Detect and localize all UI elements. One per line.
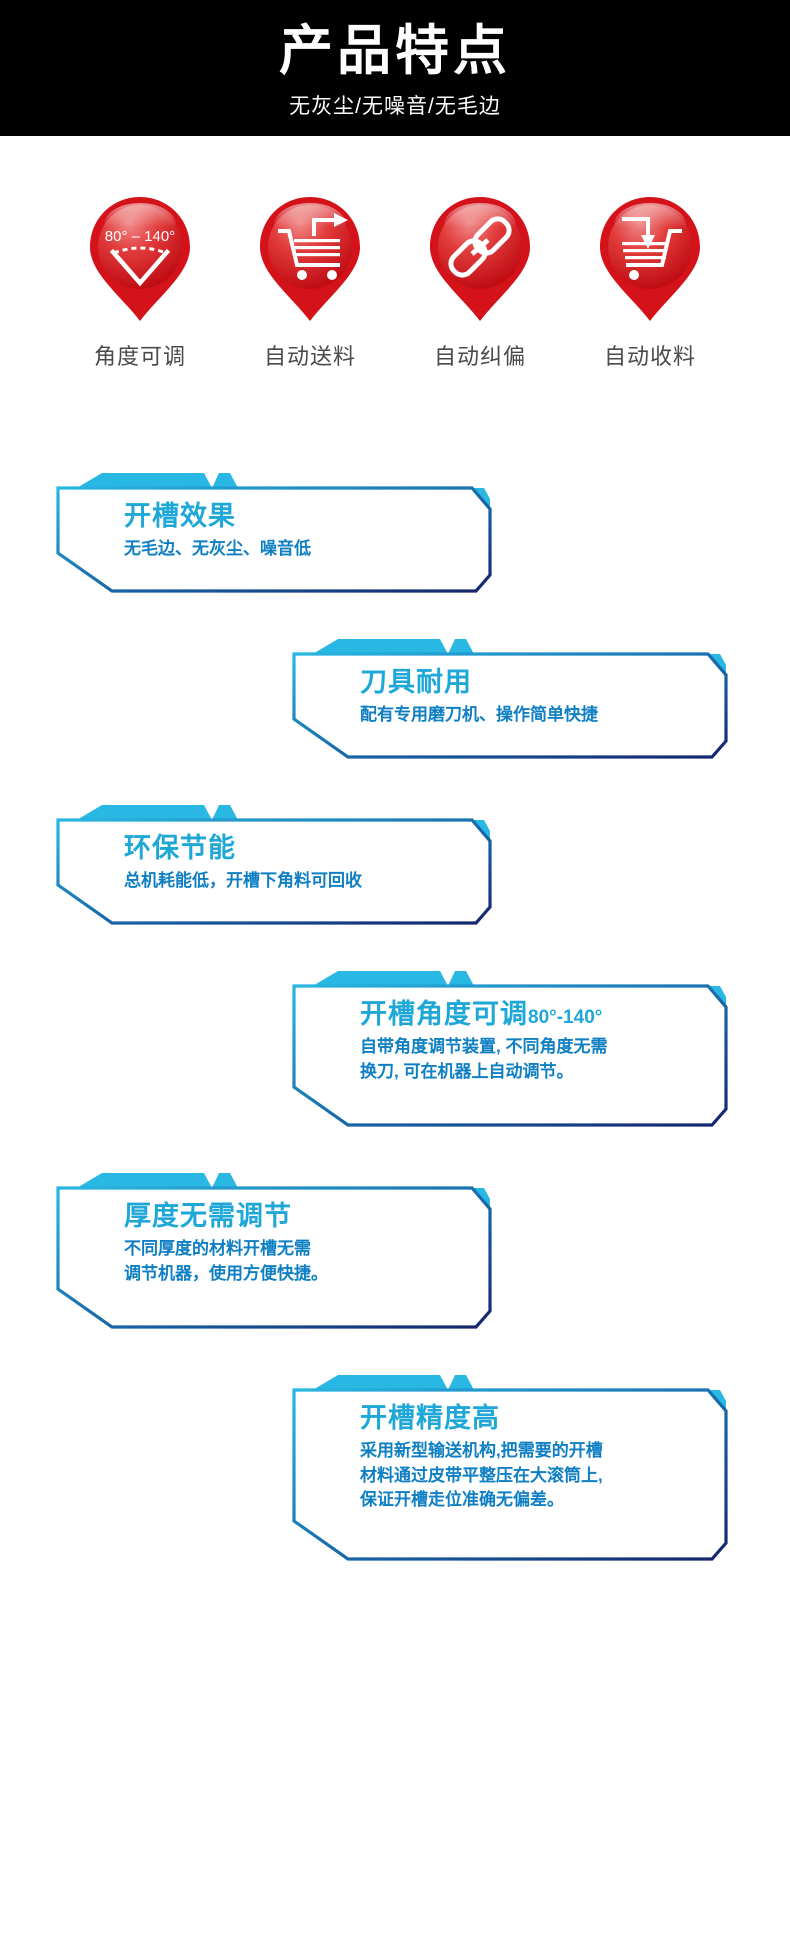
page-title: 产品特点 [279, 22, 511, 80]
cart-collect-in-icon [596, 195, 704, 323]
feature-card[interactable]: 开槽精度高 采用新型输送机构,把需要的开槽 材料通过皮带平整压在大滚筒上, 保证… [288, 1357, 728, 1575]
feature-card[interactable]: 刀具耐用 配有专用磨刀机、操作简单快捷 [288, 621, 728, 773]
card-description: 配有专用磨刀机、操作简单快捷 [360, 703, 698, 728]
chain-link-icon [426, 195, 534, 323]
card-title: 环保节能 [124, 833, 462, 865]
cart-feed-out-icon [256, 195, 364, 323]
feature-pin-row: 80° – 140° 角度可调 [0, 195, 790, 371]
pin-label: 自动送料 [264, 339, 356, 371]
feature-card-list: 开槽效果 无毛边、无灰尘、噪音低 刀具耐用 [0, 455, 790, 1589]
card-description: 总机耗能低，开槽下角料可回收 [124, 869, 462, 894]
card-title: 刀具耐用 [360, 667, 698, 699]
angle-range-icon: 80° – 140° [86, 195, 194, 323]
pin-label: 角度可调 [94, 339, 186, 371]
feature-card[interactable]: 开槽效果 无毛边、无灰尘、噪音低 [52, 455, 492, 607]
card-title: 开槽角度可调80°-140° [360, 999, 698, 1031]
card-description: 无毛边、无灰尘、噪音低 [124, 537, 462, 562]
pin-label: 自动纠偏 [434, 339, 526, 371]
card-title: 开槽精度高 [360, 1403, 698, 1435]
feature-card[interactable]: 环保节能 总机耗能低，开槽下角料可回收 [52, 787, 492, 939]
card-title: 开槽效果 [124, 501, 462, 533]
pin-item-auto-correction: 自动纠偏 [410, 195, 550, 371]
pin-label: 自动收料 [604, 339, 696, 371]
page-subtitle: 无灰尘/无噪音/无毛边 [289, 90, 501, 120]
feature-card[interactable]: 开槽角度可调80°-140° 自带角度调节装置, 不同角度无需 换刀, 可在机器… [288, 953, 728, 1141]
card-title: 厚度无需调节 [124, 1201, 462, 1233]
card-description: 采用新型输送机构,把需要的开槽 材料通过皮带平整压在大滚筒上, 保证开槽走位准确… [360, 1439, 698, 1513]
pin-item-angle-adjustable: 80° – 140° 角度可调 [70, 195, 210, 371]
svg-text:80° – 140°: 80° – 140° [105, 228, 175, 245]
feature-card[interactable]: 厚度无需调节 不同厚度的材料开槽无需 调节机器，使用方便快捷。 [52, 1155, 492, 1343]
pin-item-auto-collect: 自动收料 [580, 195, 720, 371]
card-description: 自带角度调节装置, 不同角度无需 换刀, 可在机器上自动调节。 [360, 1035, 698, 1084]
page-header: 产品特点 无灰尘/无噪音/无毛边 [0, 0, 790, 136]
pin-item-auto-feed: 自动送料 [240, 195, 380, 371]
card-description: 不同厚度的材料开槽无需 调节机器，使用方便快捷。 [124, 1237, 462, 1286]
